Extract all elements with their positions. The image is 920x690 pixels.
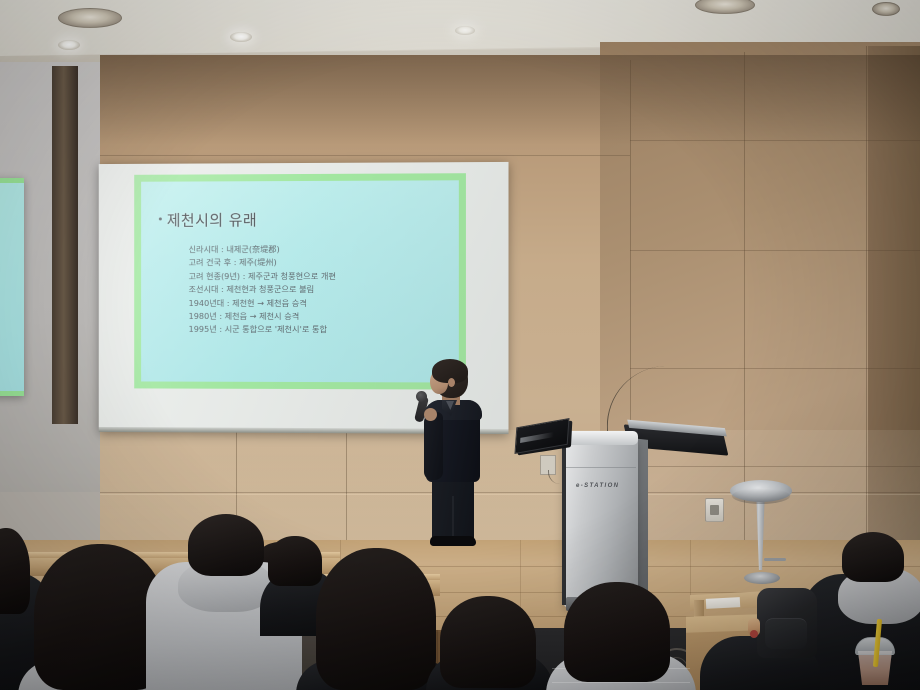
secondary-projection-screen xyxy=(0,178,24,396)
ceiling-downlight-icon xyxy=(58,8,122,28)
lectern-edge xyxy=(562,441,566,605)
presenter-ear xyxy=(448,378,455,387)
wall-seam xyxy=(630,466,920,467)
slide-line: 조선시대 : 제천현과 청풍군으로 불림 xyxy=(189,283,447,296)
presenter xyxy=(418,360,490,545)
slide-line: 신라시대 : 내제군(奈堤郡) xyxy=(189,243,447,257)
ceiling-downlight-icon xyxy=(872,2,900,16)
wall-outlet-icon xyxy=(705,498,724,522)
slide-title-bullet-icon xyxy=(159,217,162,220)
audience-hair xyxy=(268,536,322,586)
audience-hair xyxy=(188,514,264,576)
secondary-screen-slide xyxy=(0,183,24,391)
stool-seat-rim xyxy=(732,488,790,504)
presenter-hand xyxy=(424,408,437,421)
backpack-charm-accent-icon xyxy=(750,630,758,638)
bar-stool xyxy=(730,480,792,595)
presenter-leg-seam xyxy=(452,496,454,538)
presentation-slide: 제천시의 유래 신라시대 : 내제군(奈堤郡) 고려 건국 후 : 제주(堤州)… xyxy=(134,173,466,389)
slide-body: 신라시대 : 내제군(奈堤郡) 고려 건국 후 : 제주(堤州) 고려 현종(9… xyxy=(189,243,447,337)
ceiling-downlight-icon xyxy=(455,26,475,35)
lectern-top-surface xyxy=(564,431,638,445)
presenter-arm xyxy=(424,412,443,480)
wall-seam xyxy=(630,368,920,369)
wall-seam xyxy=(630,140,920,141)
wall-dark-column xyxy=(52,66,78,424)
slide-line: 1940년대 : 제천현 → 제천읍 승격 xyxy=(189,297,447,310)
slide-background: 제천시의 유래 신라시대 : 내제군(奈堤郡) 고려 건국 후 : 제주(堤州)… xyxy=(141,180,459,382)
wall-seam xyxy=(100,155,630,156)
lecture-hall-photo: 제천시의 유래 신라시대 : 내제군(奈堤郡) 고려 건국 후 : 제주(堤州)… xyxy=(0,0,920,690)
ceiling-downlight-icon xyxy=(230,32,252,42)
wall-wood-far-right xyxy=(868,46,920,566)
wall-seam xyxy=(100,492,920,493)
wall-seam xyxy=(346,428,347,550)
microphone-head-icon xyxy=(416,391,427,402)
lectern-body xyxy=(564,437,638,607)
audience-hair xyxy=(842,532,904,582)
stool-base xyxy=(744,572,780,584)
presenter-shoes xyxy=(430,536,476,546)
slide-title: 제천시의 유래 xyxy=(167,209,257,230)
paper-sheet xyxy=(706,597,740,609)
slide-line: 고려 건국 후 : 제주(堤州) xyxy=(189,256,447,270)
ceiling-downlight-icon xyxy=(58,40,80,50)
wall-seam xyxy=(630,250,920,251)
audience-hair xyxy=(564,582,670,682)
stool-height-lever xyxy=(764,558,786,561)
audience-hair xyxy=(316,548,436,690)
lectern-seam xyxy=(566,467,636,468)
wall-seam-highlight xyxy=(100,494,920,495)
puffer-seam xyxy=(552,682,690,683)
iced-drink-cup xyxy=(855,637,893,685)
wall-seam xyxy=(866,46,867,562)
slide-line: 고려 현종(9년) : 제주군과 청풍현으로 개편 xyxy=(189,270,447,284)
audience-hair xyxy=(440,596,536,688)
backpack-pocket xyxy=(765,618,807,649)
slide-line: 1995년 : 시군 통합으로 '제천시'로 통합 xyxy=(189,323,447,337)
slide-line: 1980년 : 제천읍 → 제천시 승격 xyxy=(189,310,447,324)
lectern-brand-label: e-STATION xyxy=(576,483,619,489)
